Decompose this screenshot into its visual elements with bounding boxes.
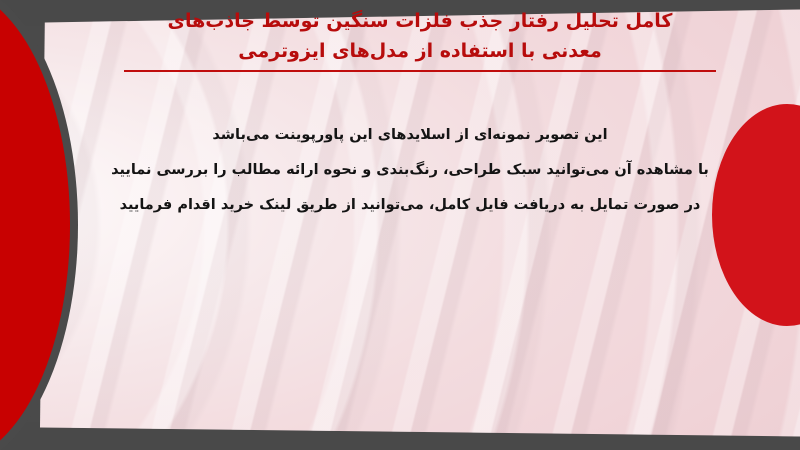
- title-underline-rule: [124, 70, 716, 72]
- slide-body: این تصویر نمونه‌ای از اسلایدهای این پاور…: [110, 118, 710, 223]
- slide-title-line-2: معدنی با استفاده از مدل‌های ایزوترمی: [120, 36, 720, 66]
- slide-title: کامل تحلیل رفتار جذب فلزات سنگین توسط جا…: [120, 6, 720, 72]
- slide-body-line-1: این تصویر نمونه‌ای از اسلایدهای این پاور…: [110, 118, 710, 153]
- slide-body-line-3: در صورت تمایل به دریافت فایل کامل، می‌تو…: [110, 188, 710, 223]
- slide-title-line-1: کامل تحلیل رفتار جذب فلزات سنگین توسط جا…: [120, 6, 720, 36]
- slide-body-line-2: با مشاهده آن می‌توانید سبک طراحی، رنگ‌بن…: [110, 153, 710, 188]
- presentation-slide: کامل تحلیل رفتار جذب فلزات سنگین توسط جا…: [0, 0, 800, 450]
